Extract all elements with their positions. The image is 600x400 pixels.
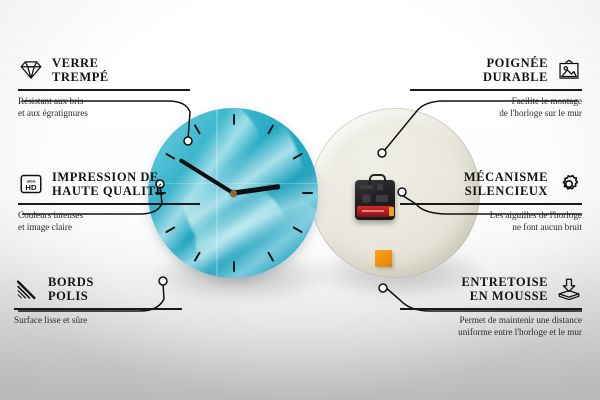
callout-verre-trempe: VERRE TREMPÉ Résistant aux bris et aux é… bbox=[18, 56, 190, 119]
diamond-icon bbox=[18, 59, 44, 81]
callout-title: IMPRESSION DE HAUTE QUALITÉ bbox=[52, 170, 164, 198]
callout-description: Facilite le montage de l'horloge sur le … bbox=[410, 95, 582, 120]
callout-title: POIGNÉE DURABLE bbox=[483, 56, 548, 84]
callout-description: Résistant aux bris et aux égratignures bbox=[18, 95, 190, 120]
divider bbox=[18, 203, 200, 205]
callout-bords-polis: BORDS POLIS Surface lisse et sûre bbox=[14, 275, 182, 326]
divider bbox=[410, 89, 582, 91]
callout-description: Couleurs intenses et image claire bbox=[18, 209, 200, 234]
callout-mecanisme-silencieux: MÉCANISME SILENCIEUX Les aiguilles de l'… bbox=[400, 170, 582, 233]
picture-frame-hanger-icon bbox=[556, 59, 582, 81]
divider bbox=[400, 203, 582, 205]
divider bbox=[18, 89, 190, 91]
foam-pad-arrow-icon bbox=[556, 278, 582, 300]
product-infographic: VERRE TREMPÉ Résistant aux bris et aux é… bbox=[0, 0, 600, 400]
callout-description: Permet de maintenir une distance uniform… bbox=[400, 314, 582, 339]
divider bbox=[400, 308, 582, 310]
callout-title: ENTRETOISE EN MOUSSE bbox=[461, 275, 548, 303]
callout-title: VERRE TREMPÉ bbox=[52, 56, 109, 84]
svg-text:HD: HD bbox=[25, 183, 37, 192]
callout-title: MÉCANISME SILENCIEUX bbox=[464, 170, 548, 198]
divider bbox=[14, 308, 182, 310]
callout-title: BORDS POLIS bbox=[48, 275, 94, 303]
polished-edge-icon bbox=[14, 278, 40, 300]
callout-description: Les aiguilles de l'horloge ne font aucun… bbox=[400, 209, 582, 234]
gear-icon bbox=[556, 173, 582, 195]
callout-description: Surface lisse et sûre bbox=[14, 314, 182, 326]
ultra-hd-icon: ultra HD bbox=[18, 173, 44, 195]
callout-impression-haute-qualite: ultra HD IMPRESSION DE HAUTE QUALITÉ Cou… bbox=[18, 170, 200, 233]
callout-poignee-durable: POIGNÉE DURABLE Facilite le montage de l… bbox=[410, 56, 582, 119]
callout-entretoise-en-mousse: ENTRETOISE EN MOUSSE Permet de maintenir… bbox=[400, 275, 582, 338]
